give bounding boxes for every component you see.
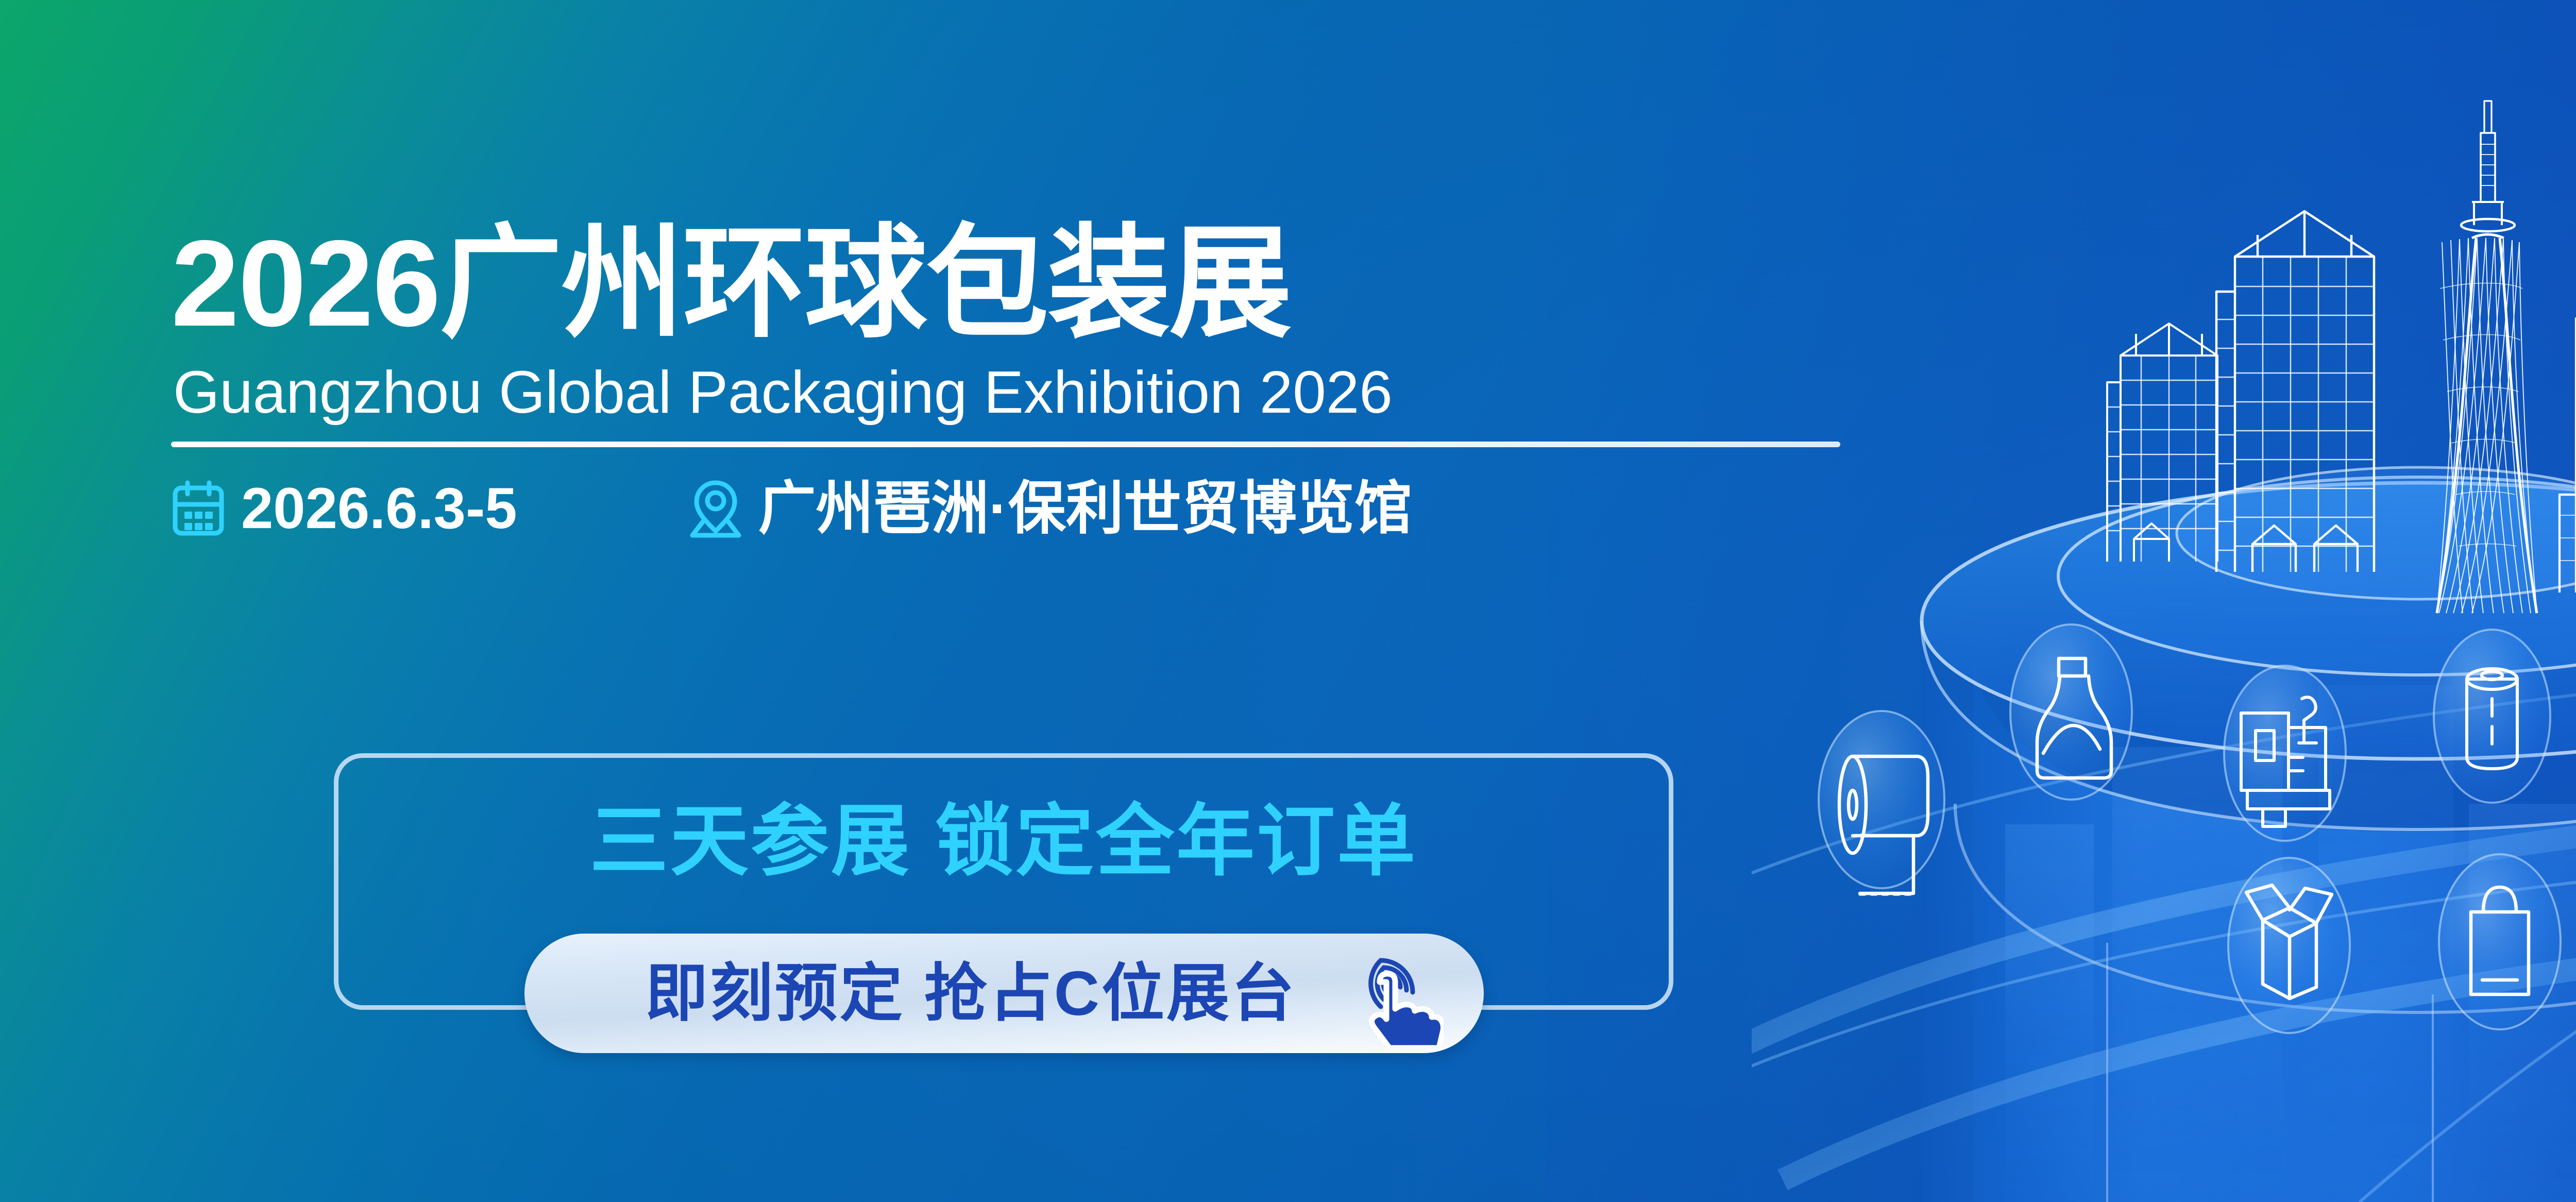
event-location: 广州琶洲·保利世贸博览馆: [758, 480, 1412, 537]
can-icon: [2434, 630, 2550, 803]
slogan-text: 三天参展 锁定全年订单: [338, 802, 1669, 881]
ctf-finance-tower: [2560, 231, 2576, 592]
click-hand-icon: [1330, 946, 1444, 1047]
event-meta: 2026.6.3-5 广州琶洲·保利世贸博览馆: [171, 470, 1923, 547]
headline-block: 2026广州环球包装展 Guangzhou Global Packaging E…: [171, 222, 1923, 547]
exhibition-banner: 2026广州环球包装展 Guangzhou Global Packaging E…: [0, 0, 2576, 1202]
packaging-platform-illustration: [1752, 0, 2576, 1202]
event-date: 2026.6.3-5: [241, 480, 517, 537]
printing-machine-icon: [2224, 666, 2346, 841]
page-subtitle: Guangzhou Global Packaging Exhibition 20…: [173, 361, 1923, 424]
calendar-icon: [171, 480, 226, 537]
map-pin-icon: [687, 478, 744, 539]
bottle-icon: [2010, 624, 2132, 800]
office-tower-pyramid: [2216, 211, 2374, 572]
carton-box-icon: [2228, 858, 2350, 1033]
page-title: 2026广州环球包装展: [171, 222, 1923, 347]
cta-label: 即刻预定 抢占C位展台: [645, 962, 1296, 1025]
event-date-item: 2026.6.3-5: [171, 480, 517, 537]
event-location-item: 广州琶洲·保利世贸博览馆: [687, 478, 1412, 539]
book-booth-button[interactable]: 即刻预定 抢占C位展台: [524, 934, 1484, 1053]
shopping-bag-icon: [2439, 854, 2561, 1029]
title-divider: [171, 442, 1840, 447]
